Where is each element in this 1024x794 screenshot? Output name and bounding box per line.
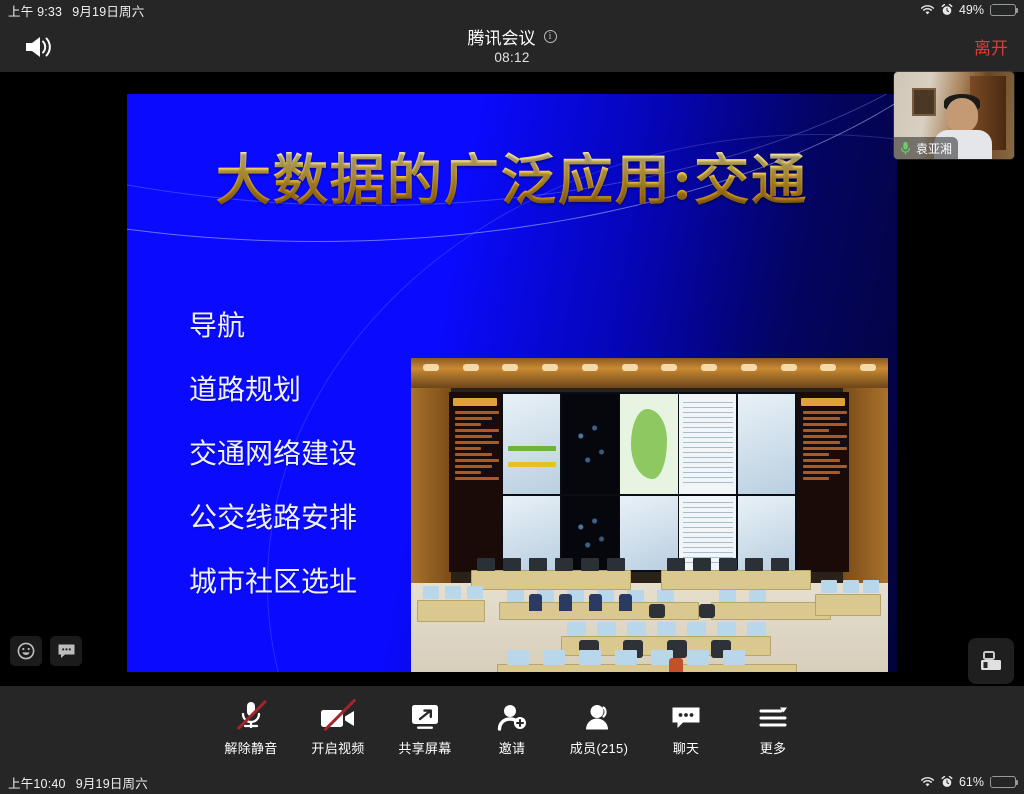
slide-bullet: 导航	[189, 304, 489, 344]
battery-charging-icon: ⚡	[990, 4, 1016, 16]
meeting-screen: 上午 9:33 9月19日周六 49% ⚡	[0, 0, 1024, 794]
toolbar-item-label: 成员(215)	[570, 738, 628, 757]
self-video-thumbnail[interactable]: 袁亚湘	[894, 72, 1014, 159]
toolbar-item-label: 聊天	[673, 738, 700, 757]
picture-frame	[912, 88, 936, 116]
wifi-icon	[920, 4, 935, 16]
slide-photo-traffic-control-room	[411, 358, 888, 672]
status-bar-bottom-battery-percent: 61%	[959, 775, 984, 789]
participant-name: 袁亚湘	[916, 140, 952, 157]
toolbar-item-more[interactable]: 更多	[730, 699, 817, 757]
status-bar-top-left: 上午 9:33 9月19日周六	[8, 1, 144, 20]
floating-action-buttons	[10, 636, 82, 666]
battery-charging-icon: ⚡	[990, 776, 1016, 788]
alarm-clock-icon	[941, 4, 953, 16]
alarm-clock-icon	[941, 776, 953, 788]
toolbar-item-start-video[interactable]: 开启视频	[295, 699, 382, 757]
shared-screen-stage: 大数据的广泛应用:交通 导航 道路规划 交通网络建设 公交线路安排 城市社区选址	[0, 72, 1024, 686]
invite-person-icon	[496, 699, 528, 731]
layout-switch-button[interactable]	[968, 638, 1014, 684]
status-bar-bottom: 上午10:40 9月19日周六 61% ⚡	[0, 770, 1024, 794]
toolbar-item-label: 解除静音	[224, 738, 277, 757]
participants-icon	[583, 699, 615, 731]
chat-bubble-icon[interactable]	[50, 636, 82, 666]
status-bar-top-battery-percent: 49%	[959, 3, 984, 17]
toolbar-item-label: 更多	[760, 738, 787, 757]
toolbar-item-share-screen[interactable]: 共享屏幕	[382, 699, 469, 757]
meeting-title-block: 腾讯会议 i 08:12	[0, 24, 1024, 65]
status-bar-top-right: 49% ⚡	[920, 3, 1016, 17]
participant-face	[946, 98, 978, 132]
meeting-toolbar: 解除静音 开启视频 共享屏幕	[0, 686, 1024, 770]
meeting-timer: 08:12	[494, 50, 529, 65]
smiley-icon[interactable]	[10, 636, 42, 666]
leave-meeting-button[interactable]: 离开	[974, 34, 1008, 59]
toolbar-item-label: 开启视频	[311, 738, 364, 757]
microphone-muted-icon	[236, 699, 266, 731]
toolbar-item-participants[interactable]: 成员(215)	[556, 699, 643, 757]
toolbar-item-invite[interactable]: 邀请	[469, 699, 556, 757]
camera-off-icon	[319, 699, 357, 731]
status-bar-bottom-left: 上午10:40 9月19日周六	[8, 773, 148, 792]
toolbar-item-label: 邀请	[499, 738, 526, 757]
share-screen-icon	[409, 699, 441, 731]
microphone-icon	[900, 141, 911, 155]
meeting-title: 腾讯会议	[468, 24, 536, 49]
more-menu-icon	[757, 699, 789, 731]
slide-title: 大数据的广泛应用:交通	[127, 152, 897, 207]
toolbar-item-unmute[interactable]: 解除静音	[208, 699, 295, 757]
status-bar-bottom-right: 61% ⚡	[920, 775, 1016, 789]
chat-icon	[670, 699, 702, 731]
info-icon[interactable]: i	[544, 30, 557, 43]
status-bar-top: 上午 9:33 9月19日周六 49% ⚡	[0, 0, 1024, 20]
wifi-icon	[920, 776, 935, 788]
participant-name-bar: 袁亚湘	[894, 137, 958, 159]
status-bar-top-time: 上午 9:33	[8, 1, 62, 20]
toolbar-item-chat[interactable]: 聊天	[643, 699, 730, 757]
status-bar-bottom-time: 上午10:40	[8, 773, 66, 792]
presentation-slide[interactable]: 大数据的广泛应用:交通 导航 道路规划 交通网络建设 公交线路安排 城市社区选址	[127, 94, 897, 672]
status-bar-bottom-date: 9月19日周六	[76, 773, 148, 792]
toolbar-item-label: 共享屏幕	[398, 738, 451, 757]
meeting-header: 腾讯会议 i 08:12 离开	[0, 20, 1024, 72]
status-bar-top-date: 9月19日周六	[72, 1, 144, 20]
